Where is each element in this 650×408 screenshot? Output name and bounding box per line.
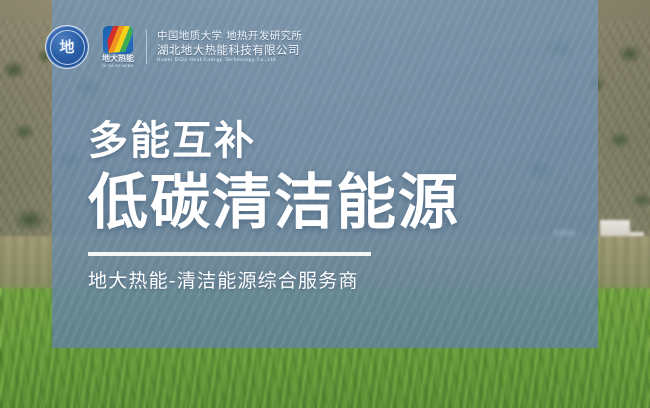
university-seal-icon: 地 — [45, 25, 89, 69]
hero-divider — [88, 252, 371, 256]
brand-logo-cn: 地大热能 — [98, 55, 138, 63]
university-seal-glyph: 地 — [46, 26, 88, 68]
hero-headline: 低碳清洁能源 — [88, 170, 558, 236]
ribbon-mark-icon — [103, 26, 133, 54]
hero-tagline: 地大热能-清洁能源综合服务商 — [88, 269, 558, 293]
rainbow-ribbon-logo-icon: 地大热能 DI DA RE NENG — [98, 26, 138, 68]
hero-kicker: 多能互补 — [88, 118, 558, 164]
hero-text-block: 多能互补 低碳清洁能源 地大热能-清洁能源综合服务商 — [88, 118, 558, 293]
logo-text-block: 中国地质大学 地热开发研究所 湖北地大热能科技有限公司 Hubei DiDa H… — [157, 30, 302, 65]
logo-lockup: 地 地大热能 DI DA RE NENG 中国地质大学 地热开发研究所 湖北地大… — [45, 24, 302, 70]
institute-name: 中国地质大学 地热开发研究所 — [157, 30, 302, 43]
company-name-en: Hubei DiDa Heat Energy Technology Co.,Lt… — [157, 57, 302, 65]
company-name-cn: 湖北地大热能科技有限公司 — [157, 43, 302, 57]
brand-logo-en: DI DA RE NENG — [98, 65, 138, 69]
logo-divider — [146, 30, 147, 64]
promo-banner: 地 地大热能 DI DA RE NENG 中国地质大学 地热开发研究所 湖北地大… — [0, 0, 650, 408]
